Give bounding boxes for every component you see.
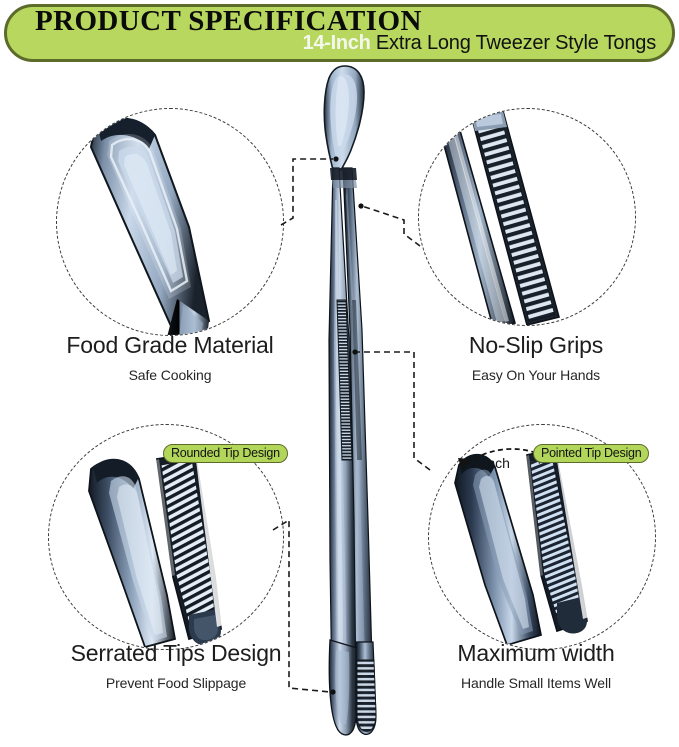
infographic-canvas: PRODUCT SPECIFICATION 14-Inch Extra Long… [0, 0, 679, 747]
badge-rounded-tip-design: Rounded Tip Design [163, 444, 288, 463]
product-illustration [0, 0, 679, 747]
badge-pointed-tip-design: Pointed Tip Design [533, 444, 649, 463]
dimension-label-2-inch: 2-Inch [471, 455, 510, 471]
